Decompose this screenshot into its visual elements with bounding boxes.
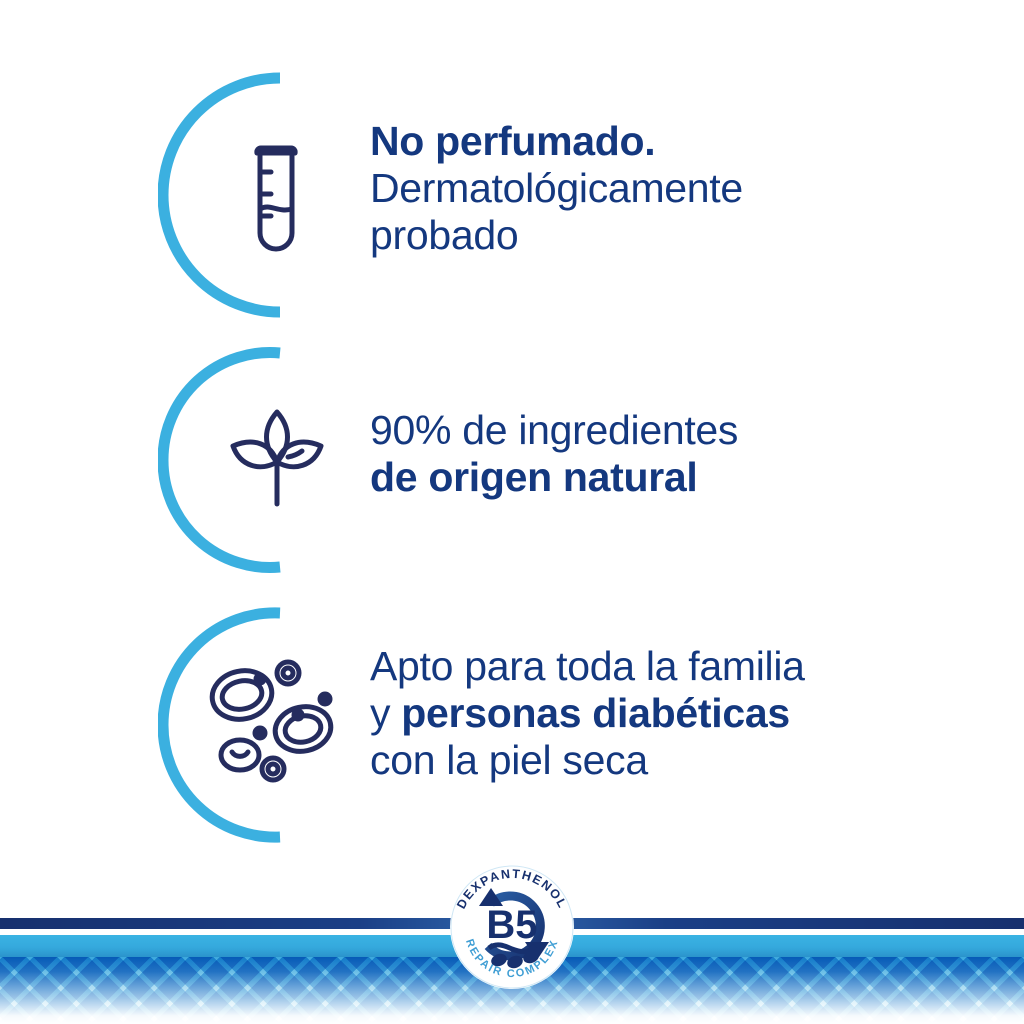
benefit-line: Apto para toda la familia (370, 643, 805, 689)
benefit-line-bold: de origen natural (370, 454, 698, 500)
benefit-text-natural-origin: 90% de ingredientes de origen natural (370, 407, 970, 501)
benefit-line-bold: No perfumado. (370, 118, 655, 164)
benefit-line: 90% de ingredientes (370, 407, 738, 453)
plant-leaf-icon (222, 400, 332, 515)
test-tube-icon (236, 142, 316, 262)
bubbles-cells-icon (200, 657, 350, 787)
dexpanthenol-b5-repair-complex-badge: B5 DEXPANTHENOL REPAIR COMPLEX (447, 862, 577, 992)
benefit-line: con la piel seca (370, 737, 648, 783)
benefit-row-family-diabetic: Apto para toda la familia y personas dia… (0, 605, 1024, 845)
benefit-line-bold: personas diabéticas (401, 690, 790, 736)
benefit-row-no-perfume: No perfumado. Dermatológicamente probado (0, 70, 1024, 320)
benefit-line: probado (370, 212, 518, 258)
benefit-line: Dermatológicamente (370, 165, 743, 211)
benefit-line-prefix: y (370, 690, 401, 736)
infographic-canvas: No perfumado. Dermatológicamente probado (0, 0, 1024, 1024)
benefit-row-natural-origin: 90% de ingredientes de origen natural (0, 345, 1024, 575)
badge-center-text: B5 (486, 903, 537, 947)
benefit-text-family-diabetic: Apto para toda la familia y personas dia… (370, 643, 970, 784)
benefit-text-no-perfume: No perfumado. Dermatológicamente probado (370, 118, 970, 259)
